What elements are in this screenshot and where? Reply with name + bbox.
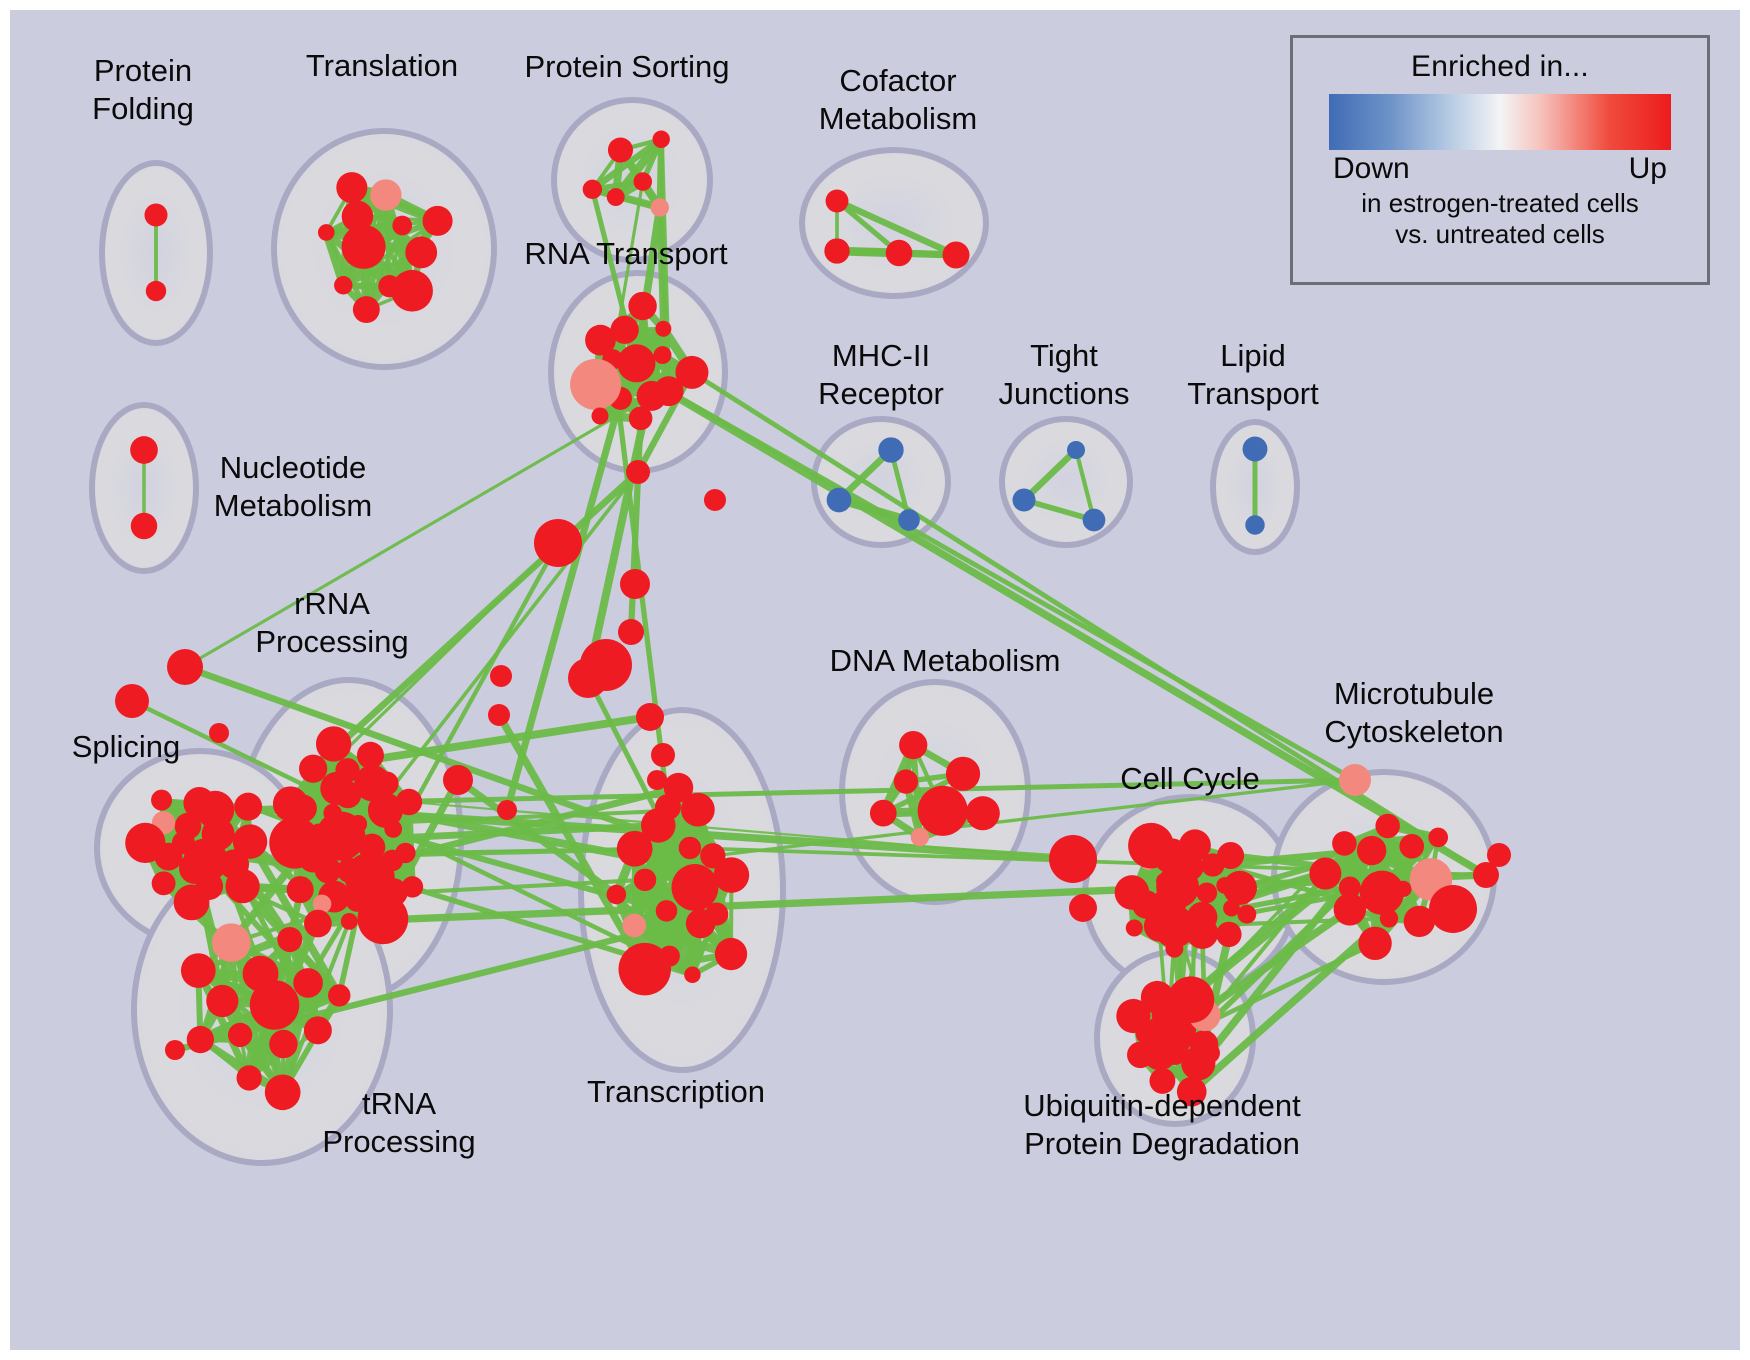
gene-set-node[interactable] <box>654 346 672 364</box>
gene-set-node[interactable] <box>629 407 653 431</box>
gene-set-node[interactable] <box>353 296 380 323</box>
gene-set-node[interactable] <box>342 201 374 233</box>
gene-set-node[interactable] <box>675 356 708 389</box>
gene-set-node[interactable] <box>1357 836 1386 865</box>
gene-set-node[interactable] <box>237 1065 262 1090</box>
gene-set-node[interactable] <box>402 876 423 897</box>
gene-set-node[interactable] <box>497 800 517 820</box>
gene-set-node[interactable] <box>570 359 621 410</box>
legend-subtitle-line2: vs. untreated cells <box>1293 219 1707 250</box>
gene-set-node[interactable] <box>115 684 149 718</box>
gene-set-node[interactable] <box>1237 905 1256 924</box>
gene-set-node[interactable] <box>152 871 176 895</box>
cluster-label-mhc-ii-receptor: Receptor <box>818 376 944 411</box>
gene-set-node[interactable] <box>1245 515 1264 534</box>
gene-set-node[interactable] <box>1012 488 1035 511</box>
gene-set-node[interactable] <box>265 1074 301 1110</box>
legend-low-label: Down <box>1333 152 1410 186</box>
cluster-label-mhc-ii-receptor: MHC-II <box>832 338 930 373</box>
cluster-label-protein-sorting: Protein Sorting <box>524 49 729 84</box>
gene-set-node[interactable] <box>1243 437 1268 462</box>
gene-set-node[interactable] <box>334 276 352 294</box>
legend-color-gradient-bar <box>1329 94 1671 150</box>
gene-set-node[interactable] <box>684 967 700 983</box>
gene-set-node[interactable] <box>617 831 653 867</box>
legend-panel: Enriched in... Down Up in estrogen-treat… <box>1290 35 1710 285</box>
cluster-label-cofactor-metabolism: Metabolism <box>819 101 978 136</box>
gene-set-node[interactable] <box>1334 893 1366 925</box>
cluster-label-ubiquitin-dependent-protein-degradation: Protein Degradation <box>1024 1126 1300 1161</box>
gene-set-node[interactable] <box>1144 911 1175 942</box>
cluster-label-protein-folding: Folding <box>92 91 194 126</box>
gene-set-node[interactable] <box>1126 919 1143 936</box>
gene-set-node[interactable] <box>608 137 633 162</box>
gene-set-node[interactable] <box>335 758 359 782</box>
gene-set-node[interactable] <box>1128 823 1174 869</box>
cluster-label-dna-metabolism: DNA Metabolism <box>830 643 1061 678</box>
gene-set-node[interactable] <box>633 172 652 191</box>
gene-set-node[interactable] <box>167 649 203 685</box>
cluster-ellipse-mhc-ii-receptor[interactable] <box>814 419 948 545</box>
gene-set-node[interactable] <box>277 927 302 952</box>
gene-set-node[interactable] <box>655 794 681 820</box>
gene-set-node[interactable] <box>225 869 259 903</box>
gene-set-node[interactable] <box>620 569 650 599</box>
gene-set-node[interactable] <box>1156 873 1172 889</box>
legend-high-label: Up <box>1629 152 1667 186</box>
gene-set-node[interactable] <box>299 755 327 783</box>
gene-set-node[interactable] <box>490 665 512 687</box>
cluster-ellipse-cofactor-metabolism[interactable] <box>802 150 986 296</box>
gene-set-node[interactable] <box>714 857 750 893</box>
gene-set-node[interactable] <box>671 864 718 911</box>
legend-title: Enriched in... <box>1293 50 1707 84</box>
legend-subtitle-line1: in estrogen-treated cells <box>1293 188 1707 219</box>
gene-set-node[interactable] <box>585 325 616 356</box>
gene-set-node[interactable] <box>1049 835 1097 883</box>
gene-set-node[interactable] <box>626 460 650 484</box>
gene-set-node[interactable] <box>628 292 656 320</box>
cluster-label-protein-folding: Protein <box>94 53 192 88</box>
gene-set-node[interactable] <box>228 1023 252 1047</box>
gene-set-node[interactable] <box>349 815 367 833</box>
gene-set-node[interactable] <box>1067 441 1085 459</box>
gene-set-node[interactable] <box>304 1016 332 1044</box>
gene-set-node[interactable] <box>233 824 268 859</box>
gene-set-node[interactable] <box>583 180 602 199</box>
gene-set-node[interactable] <box>899 731 927 759</box>
gene-set-node[interactable] <box>636 703 664 731</box>
gene-set-node[interactable] <box>1116 999 1150 1033</box>
gene-set-node[interactable] <box>1429 885 1477 933</box>
gene-set-node[interactable] <box>1380 909 1398 927</box>
cluster-label-tight-junctions: Tight <box>1030 338 1098 373</box>
gene-set-node[interactable] <box>966 796 1000 830</box>
gene-set-node[interactable] <box>1186 917 1218 949</box>
cluster-label-trna-processing: tRNA <box>362 1086 436 1121</box>
gene-set-node[interactable] <box>911 828 929 846</box>
gene-set-node[interactable] <box>1115 875 1150 910</box>
gene-set-node[interactable] <box>651 743 675 767</box>
cluster-label-lipid-transport: Transport <box>1187 376 1319 411</box>
gene-set-node[interactable] <box>1428 828 1448 848</box>
gene-set-node[interactable] <box>423 206 453 236</box>
cluster-label-tight-junctions: Junctions <box>999 376 1130 411</box>
gene-set-node[interactable] <box>357 893 408 944</box>
gene-set-node[interactable] <box>894 769 918 793</box>
gene-set-node[interactable] <box>1216 922 1241 947</box>
gene-set-node[interactable] <box>1339 764 1371 796</box>
gene-set-node[interactable] <box>243 956 279 992</box>
gene-set-node[interactable] <box>655 321 671 337</box>
cluster-label-microtubule-cytoskeleton: Cytoskeleton <box>1324 714 1503 749</box>
gene-set-node[interactable] <box>130 436 158 464</box>
gene-set-node[interactable] <box>336 172 367 203</box>
gene-set-node[interactable] <box>619 943 671 995</box>
gene-set-node[interactable] <box>1309 858 1341 890</box>
gene-set-node[interactable] <box>269 817 321 869</box>
gene-set-node[interactable] <box>391 270 433 312</box>
gene-set-node[interactable] <box>318 224 335 241</box>
gene-set-node[interactable] <box>1223 871 1257 905</box>
gene-set-node[interactable] <box>370 179 401 210</box>
gene-set-node[interactable] <box>656 900 678 922</box>
gene-set-node[interactable] <box>607 188 625 206</box>
gene-set-node[interactable] <box>316 726 351 761</box>
gene-set-node[interactable] <box>384 820 402 838</box>
gene-set-node[interactable] <box>705 903 728 926</box>
gene-set-node[interactable] <box>181 953 216 988</box>
gene-set-node[interactable] <box>826 190 849 213</box>
gene-set-node[interactable] <box>187 1026 214 1053</box>
gene-set-node[interactable] <box>886 240 913 267</box>
gene-set-node[interactable] <box>1083 509 1106 532</box>
gene-set-node[interactable] <box>183 787 215 819</box>
gene-set-node[interactable] <box>1179 829 1211 861</box>
gene-set-node[interactable] <box>273 786 308 821</box>
gene-set-node[interactable] <box>165 1040 185 1060</box>
gene-set-node[interactable] <box>1358 927 1391 960</box>
gene-set-node[interactable] <box>1399 834 1424 859</box>
gene-set-node[interactable] <box>269 1030 297 1058</box>
gene-set-node[interactable] <box>287 876 314 903</box>
gene-set-node[interactable] <box>405 236 437 268</box>
gene-set-node[interactable] <box>1165 940 1183 958</box>
legend-endpoint-labels: Down Up <box>1293 150 1707 186</box>
gene-set-node[interactable] <box>144 203 167 226</box>
gene-set-node[interactable] <box>618 619 644 645</box>
gene-set-node[interactable] <box>942 241 969 268</box>
gene-set-node[interactable] <box>679 837 702 860</box>
cluster-label-cell-cycle: Cell Cycle <box>1120 761 1260 796</box>
gene-set-node[interactable] <box>1196 882 1217 903</box>
gene-set-node[interactable] <box>591 407 608 424</box>
gene-set-node[interactable] <box>131 513 157 539</box>
gene-set-node[interactable] <box>375 771 399 795</box>
gene-set-node[interactable] <box>1332 831 1357 856</box>
gene-set-node[interactable] <box>209 723 229 743</box>
gene-set-node[interactable] <box>607 885 627 905</box>
gene-set-node[interactable] <box>824 238 849 263</box>
gene-set-node[interactable] <box>146 281 166 301</box>
gene-set-node[interactable] <box>234 793 262 821</box>
gene-set-node[interactable] <box>328 984 350 1006</box>
gene-set-node[interactable] <box>534 519 582 567</box>
gene-set-node[interactable] <box>1199 1043 1220 1064</box>
gene-set-node[interactable] <box>1069 894 1097 922</box>
gene-set-node[interactable] <box>342 225 386 269</box>
gene-set-node[interactable] <box>443 765 473 795</box>
gene-set-node[interactable] <box>622 914 646 938</box>
cluster-label-rna-transport: RNA Transport <box>524 236 728 271</box>
gene-set-node[interactable] <box>1217 842 1244 869</box>
gene-set-node[interactable] <box>323 804 341 822</box>
gene-set-node[interactable] <box>392 216 412 236</box>
gene-set-node[interactable] <box>488 704 510 726</box>
gene-set-node[interactable] <box>357 742 384 769</box>
gene-set-node[interactable] <box>396 789 422 815</box>
gene-set-node[interactable] <box>125 823 165 863</box>
gene-set-node[interactable] <box>898 509 920 531</box>
gene-set-node[interactable] <box>870 800 897 827</box>
gene-set-node[interactable] <box>647 770 667 790</box>
gene-set-node[interactable] <box>341 913 358 930</box>
gene-set-node[interactable] <box>206 985 238 1017</box>
gene-set-node[interactable] <box>293 968 323 998</box>
legend-subtitle: in estrogen-treated cells vs. untreated … <box>1293 188 1707 249</box>
cluster-label-ubiquitin-dependent-protein-degradation: Ubiquitin-dependent <box>1023 1088 1301 1123</box>
cluster-label-nucleotide-metabolism: Metabolism <box>214 488 373 523</box>
gene-set-node[interactable] <box>304 910 332 938</box>
gene-set-node[interactable] <box>918 786 968 836</box>
gene-set-node[interactable] <box>634 869 656 891</box>
gene-set-node[interactable] <box>651 198 669 216</box>
gene-set-node[interactable] <box>827 488 852 513</box>
gene-set-node[interactable] <box>878 437 903 462</box>
gene-set-node[interactable] <box>715 938 747 970</box>
cluster-label-rrna-processing: rRNA <box>294 586 370 621</box>
cluster-label-splicing: Splicing <box>72 729 181 764</box>
gene-set-node[interactable] <box>1395 881 1411 897</box>
cluster-label-microtubule-cytoskeleton: Microtubule <box>1334 676 1494 711</box>
gene-set-node[interactable] <box>212 923 251 962</box>
gene-set-node[interactable] <box>1168 976 1215 1023</box>
cluster-label-trna-processing: Processing <box>322 1124 475 1159</box>
gene-set-node[interactable] <box>617 344 655 382</box>
gene-set-node[interactable] <box>704 489 726 511</box>
gene-set-node[interactable] <box>568 658 608 698</box>
figure-stage: ProteinFoldingTranslationProtein Sorting… <box>0 0 1750 1360</box>
cluster-label-nucleotide-metabolism: Nucleotide <box>220 450 366 485</box>
gene-set-node[interactable] <box>174 885 210 921</box>
gene-set-node[interactable] <box>1375 814 1399 838</box>
cluster-label-transcription: Transcription <box>587 1074 765 1109</box>
cluster-ellipse-tight-junctions[interactable] <box>1002 419 1130 545</box>
cluster-label-translation: Translation <box>306 48 458 83</box>
cluster-label-lipid-transport: Lipid <box>1220 338 1286 373</box>
gene-set-node[interactable] <box>151 790 172 811</box>
gene-set-node[interactable] <box>1487 843 1511 867</box>
gene-set-node[interactable] <box>652 131 669 148</box>
cluster-label-cofactor-metabolism: Cofactor <box>839 63 956 98</box>
gene-set-node[interactable] <box>1127 1042 1154 1069</box>
gene-set-node[interactable] <box>395 843 415 863</box>
gene-set-node[interactable] <box>946 757 980 791</box>
cluster-label-rrna-processing: Processing <box>255 624 408 659</box>
